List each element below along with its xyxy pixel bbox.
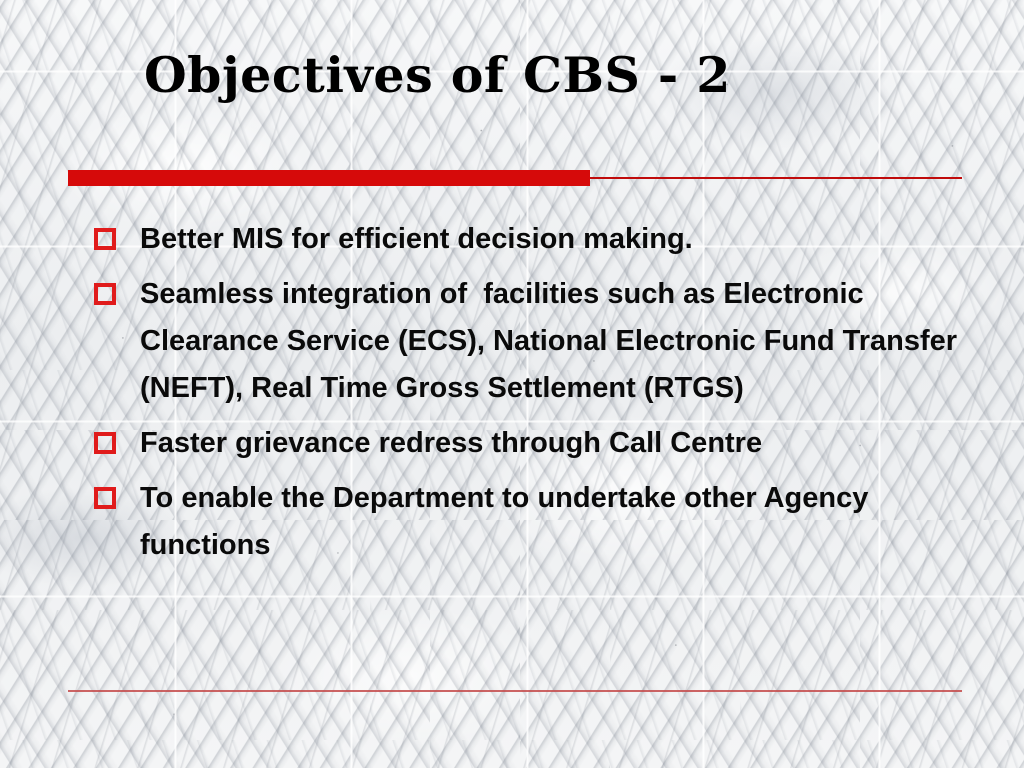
title-underline-thick	[68, 170, 590, 186]
list-item-text: To enable the Department to undertake ot…	[140, 475, 968, 569]
list-item: Seamless integration of facilities such …	[88, 271, 968, 412]
hollow-square-bullet-icon	[94, 432, 116, 454]
list-item: Faster grievance redress through Call Ce…	[88, 420, 968, 467]
list-item: To enable the Department to undertake ot…	[88, 475, 968, 569]
list-item-text: Seamless integration of facilities such …	[140, 271, 968, 412]
list-item: Better MIS for efficient decision making…	[88, 216, 968, 263]
slide-title: Objectives of CBS - 2	[144, 46, 904, 104]
hollow-square-bullet-icon	[94, 228, 116, 250]
list-item-text: Faster grievance redress through Call Ce…	[140, 420, 968, 467]
hollow-square-bullet-icon	[94, 283, 116, 305]
list-item-text: Better MIS for efficient decision making…	[140, 216, 968, 263]
footer-rule	[68, 690, 962, 692]
hollow-square-bullet-icon	[94, 487, 116, 509]
slide-canvas: Objectives of CBS - 2 Better MIS for eff…	[0, 0, 1024, 768]
bullet-list: Better MIS for efficient decision making…	[88, 216, 968, 577]
